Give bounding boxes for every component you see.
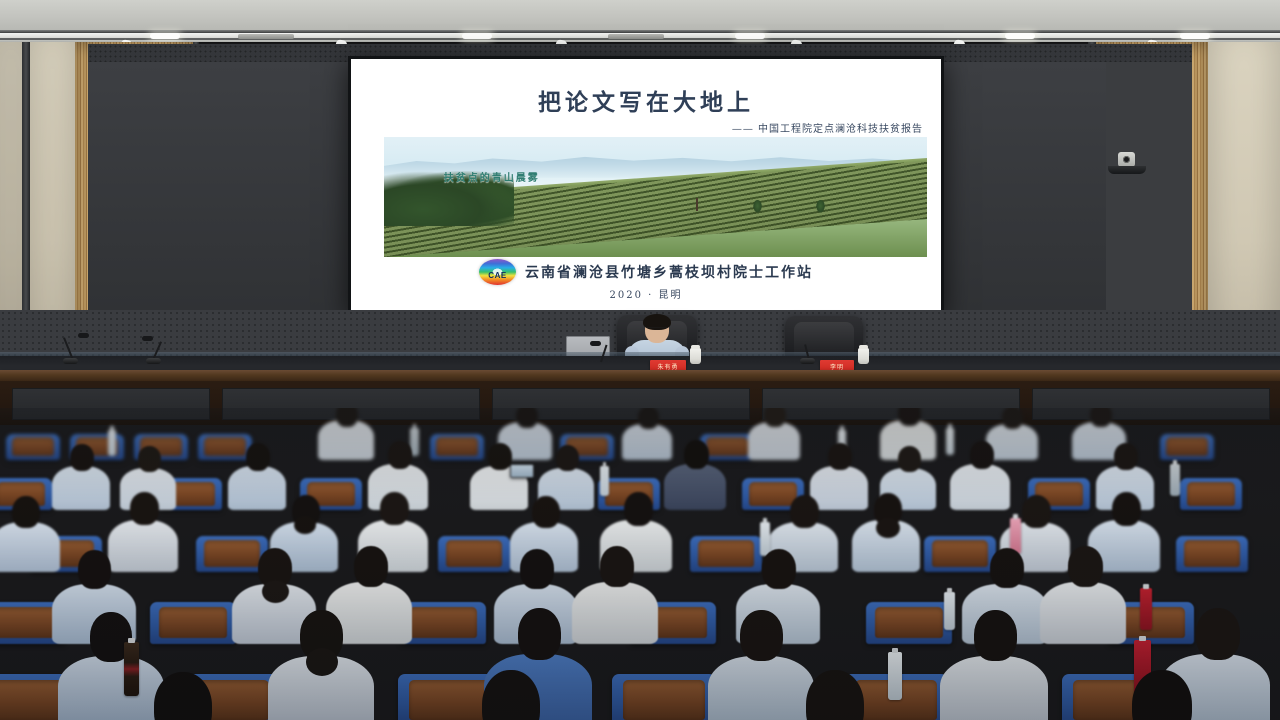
person-hair-bun	[306, 648, 338, 676]
desk-riser	[0, 356, 1280, 371]
person-head	[1114, 443, 1138, 470]
slide-landscape-photo: 扶贫点的青山晨雾	[384, 137, 927, 257]
person-hair-bun	[876, 518, 900, 538]
microphone-head-icon	[142, 336, 153, 341]
camera-wall-mount	[1108, 166, 1146, 174]
person-head	[130, 492, 159, 525]
person-head	[974, 610, 1017, 661]
water-bottle	[760, 522, 770, 556]
ceiling-vent	[238, 34, 294, 39]
photo-cherry-blossom-tree	[685, 185, 711, 211]
person-head	[12, 496, 40, 528]
presentation-slide: 把论文写在大地上 —— 中国工程院定点澜沧科技扶贫报告 扶贫点的青山晨雾 云南省…	[351, 59, 941, 311]
person-head	[1090, 408, 1112, 427]
person-head	[990, 548, 1024, 588]
person-head	[518, 608, 561, 660]
thermos	[1170, 464, 1180, 496]
ceiling-lamp-icon	[462, 33, 492, 39]
person-head	[1068, 546, 1103, 587]
back-wall-left-section	[88, 62, 350, 310]
slide-footer: 云南省澜沧县竹塘乡蒿枝坝村院士工作站	[351, 259, 941, 285]
person-head	[828, 443, 852, 470]
person-head	[78, 550, 111, 589]
microphone-base	[63, 358, 78, 364]
slide-subtitle: —— 中国工程院定点澜沧科技扶贫报告	[732, 120, 923, 135]
microphone-base	[146, 358, 161, 364]
water-bottle	[600, 466, 609, 496]
person-head	[516, 408, 538, 428]
person-head	[898, 408, 921, 426]
person-head	[1002, 408, 1023, 429]
audience-row-foreground	[0, 686, 1280, 720]
microphone-head-icon	[590, 341, 601, 346]
ptz-camera-icon	[1118, 152, 1135, 167]
ceiling-lamp-icon	[735, 33, 765, 39]
photo-lone-tree	[753, 200, 762, 213]
person-head	[354, 546, 388, 587]
slide-date-place: 2020 · 昆明	[351, 286, 941, 301]
person-head	[556, 445, 579, 471]
ceiling-vent	[608, 34, 664, 39]
audience-area	[0, 408, 1280, 720]
ceiling-lamp-icon	[1180, 33, 1210, 39]
person-head	[762, 549, 796, 589]
person-head	[520, 549, 554, 589]
conference-hall-photo: 把论文写在大地上 —— 中国工程院定点澜沧科技扶贫报告 扶贫点的青山晨雾 云南省…	[0, 0, 1280, 720]
person-head	[898, 446, 921, 472]
person-head	[1196, 608, 1240, 660]
back-wall-right-section	[938, 62, 1106, 310]
ceiling-lamp-icon	[150, 33, 180, 39]
person-head	[138, 446, 161, 472]
speaker-glasses-icon	[646, 327, 668, 332]
cae-logo-icon	[479, 259, 516, 285]
person-head	[764, 408, 786, 427]
slide-station-name: 云南省澜沧县竹塘乡蒿枝坝村院士工作站	[525, 262, 813, 282]
tea-cup	[858, 348, 869, 364]
person-head	[684, 440, 709, 469]
person-head	[246, 443, 270, 471]
person-head	[336, 408, 358, 427]
person-head	[532, 496, 560, 528]
photo-lone-tree	[816, 200, 825, 213]
person-head	[380, 492, 409, 525]
person-head	[1022, 495, 1051, 528]
projection-screen: 把论文写在大地上 —— 中国工程院定点澜沧科技扶贫报告 扶贫点的青山晨雾 云南省…	[348, 56, 944, 314]
slide-title: 把论文写在大地上	[351, 83, 941, 117]
photo-caption: 扶贫点的青山晨雾	[444, 169, 540, 184]
person-head	[638, 408, 659, 429]
tea-cup	[690, 348, 701, 364]
desk-top-surface	[0, 370, 1280, 381]
microphone-head-icon	[78, 333, 89, 338]
microphone-base	[800, 358, 815, 364]
person-hair-bun	[294, 516, 316, 534]
person-head	[970, 441, 994, 469]
person-head	[624, 492, 653, 526]
person-head	[488, 443, 512, 470]
person-head	[790, 495, 819, 528]
person-head	[388, 441, 412, 469]
person-head	[740, 610, 783, 661]
person-head	[70, 444, 94, 471]
person-hair-bun	[262, 580, 289, 603]
person-head	[600, 546, 634, 587]
ceiling-lamp-icon	[1005, 33, 1035, 39]
smartphone-icon	[510, 464, 534, 478]
person-head	[1112, 492, 1141, 526]
ceiling	[0, 0, 1280, 32]
